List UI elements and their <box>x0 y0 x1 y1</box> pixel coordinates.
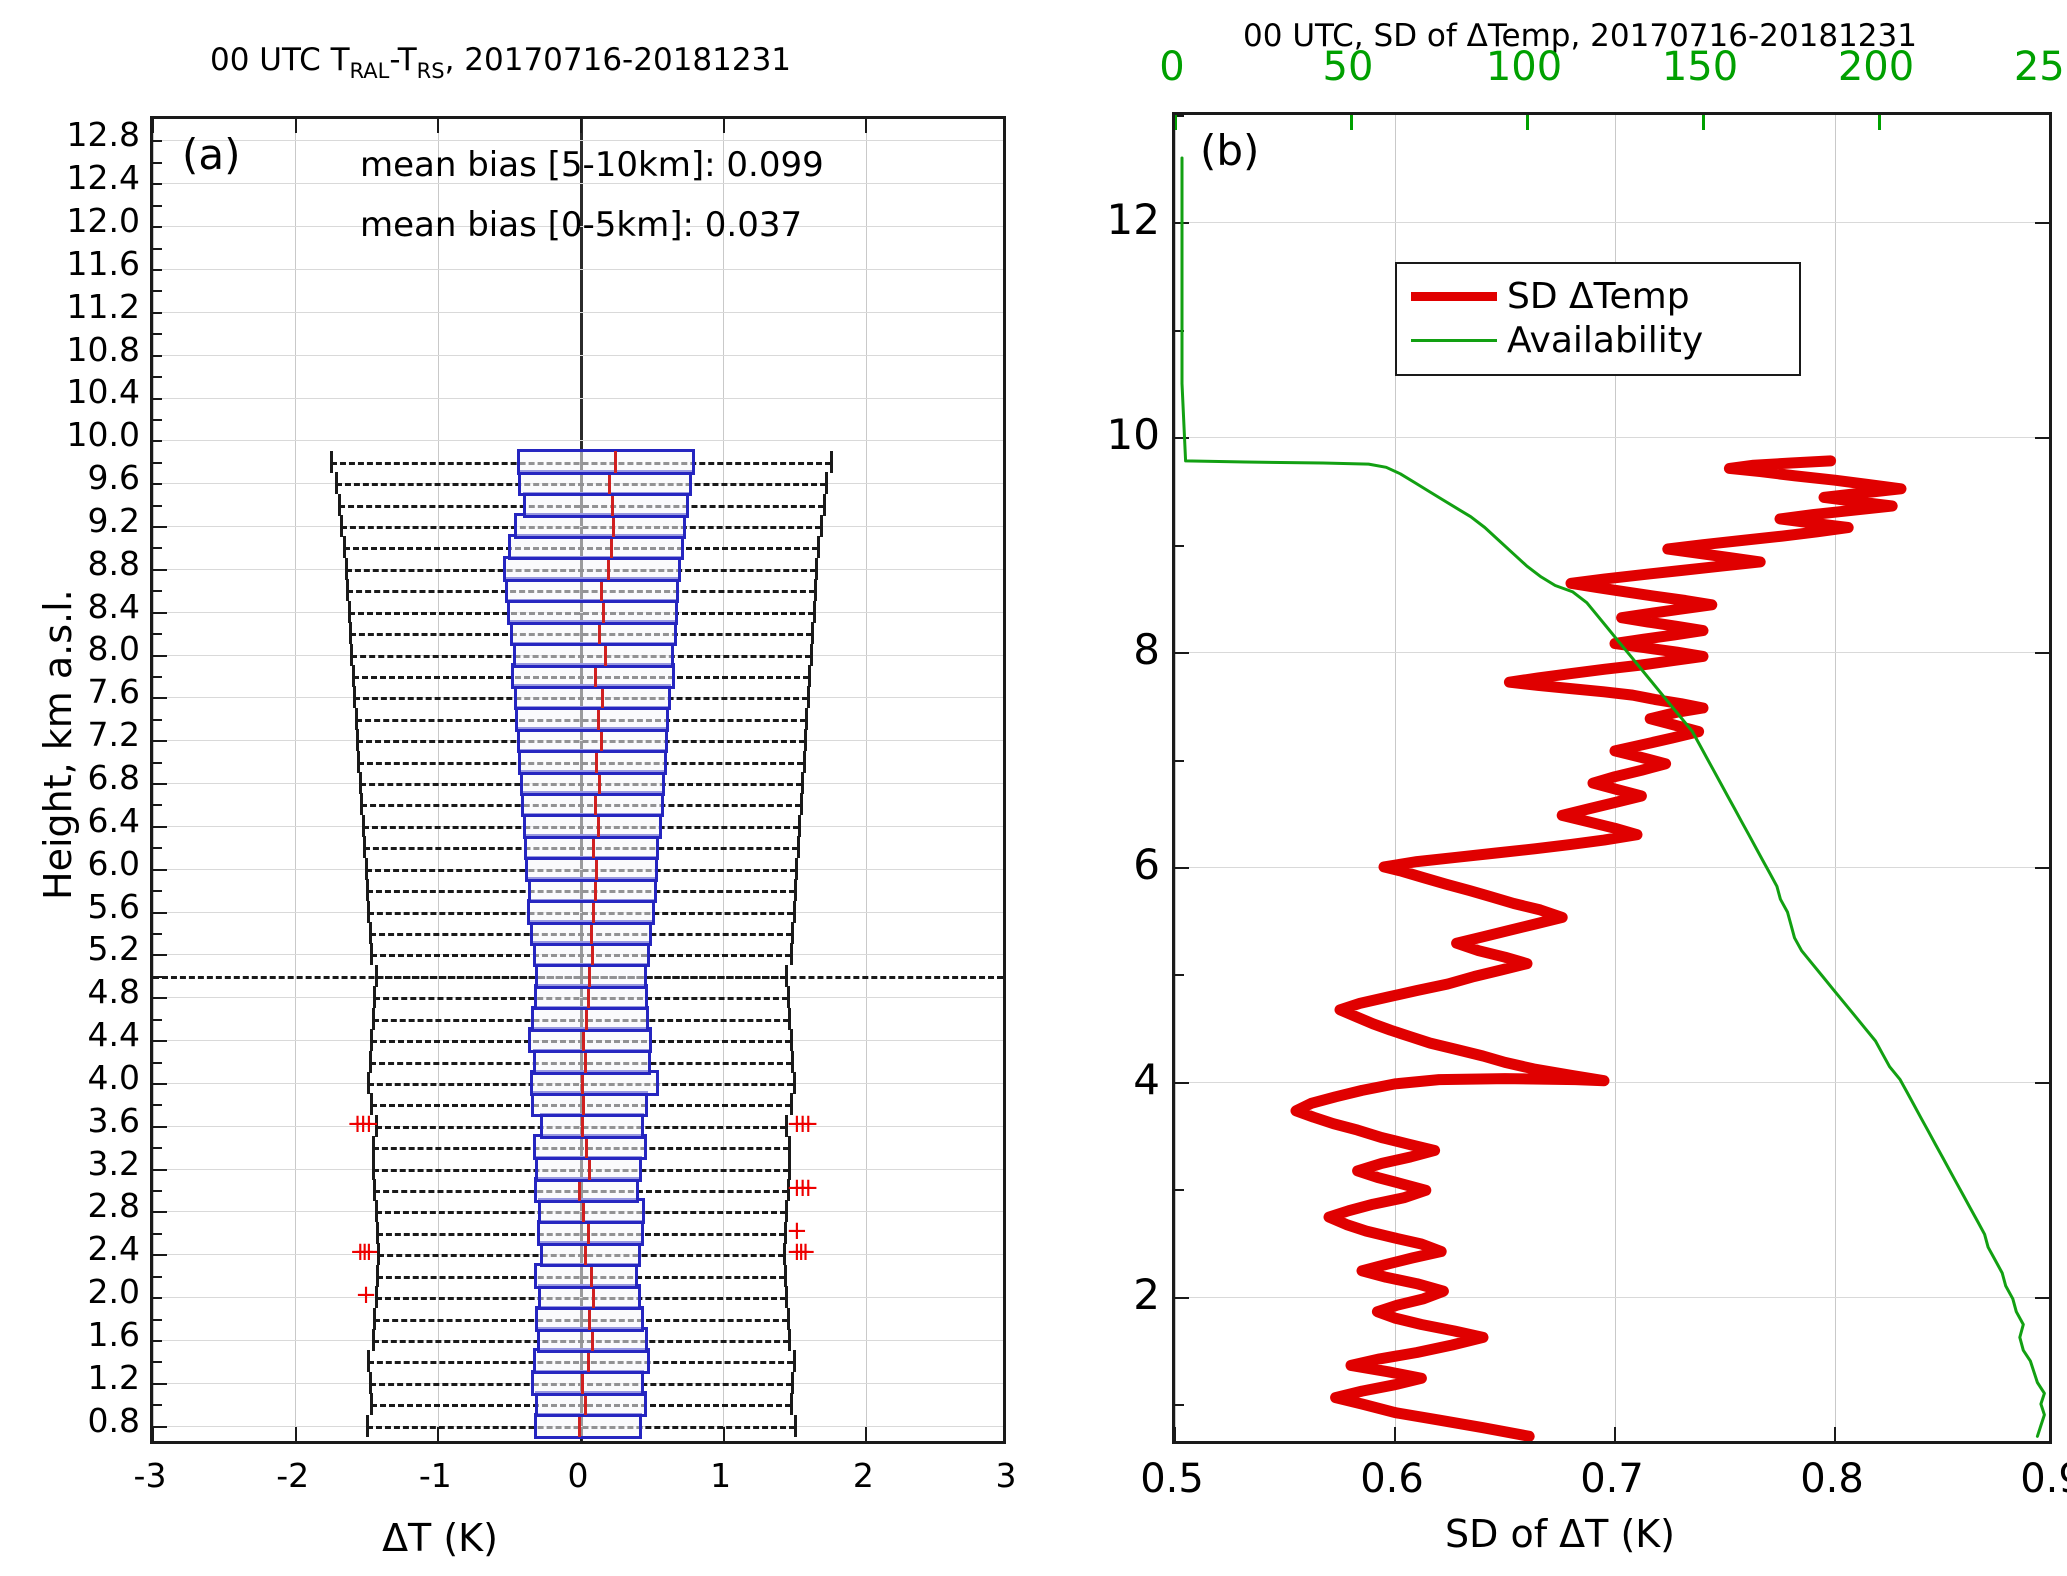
panel-a-ytick <box>153 1169 167 1171</box>
boxplot-median <box>588 1308 591 1330</box>
boxplot-median <box>594 879 597 901</box>
panel-a-gridline-h <box>153 140 1003 141</box>
boxplot-median <box>608 472 611 494</box>
panel-a-ytick <box>153 569 167 571</box>
boxplot-whisker-cap-low <box>343 536 346 558</box>
boxplot-whisker-cap-low <box>356 729 359 751</box>
boxplot-whisker-cap-high <box>788 1136 791 1158</box>
legend-entry-availability: Availability <box>1411 318 1783 362</box>
panel-b-top-tick-label: 100 <box>1444 44 1604 90</box>
boxplot-whisker-cap-low <box>348 601 351 623</box>
boxplot-median <box>582 1200 585 1222</box>
panel-a-xtick-bottom <box>152 1427 154 1441</box>
boxplot-whisker-cap-low <box>350 644 353 666</box>
panel-a-xtick-bottom <box>295 1427 297 1441</box>
boxplot-whisker-cap-high <box>790 1393 793 1415</box>
panel-a-ytick <box>153 505 162 507</box>
panel-a-gridline-h <box>153 355 1003 356</box>
boxplot-whisker-cap-high <box>787 986 790 1008</box>
panel-a-ytick <box>153 1340 162 1342</box>
panel-b-xtick-label: 0.9 <box>1972 1456 2067 1502</box>
boxplot-median <box>584 1393 587 1415</box>
boxplot-whisker-cap-low <box>376 1265 379 1287</box>
boxplot-whisker-cap-low <box>353 686 356 708</box>
boxplot-whisker-cap-high <box>793 1072 796 1094</box>
boxplot-whisker-cap-high <box>808 665 811 687</box>
panel-a-ytick <box>153 1297 162 1299</box>
panel-a-ytick-label: 10.4 <box>2 372 140 411</box>
panel-a-ytick <box>153 1383 167 1385</box>
panel-a-ytick <box>153 140 162 142</box>
panel-a-ytick-label: 8.0 <box>2 629 140 668</box>
boxplot-whisker-cap-high <box>784 1265 787 1287</box>
legend-swatch-availability <box>1411 339 1497 342</box>
boxplot-whisker-cap-high <box>805 708 808 730</box>
boxplot-median <box>600 579 603 601</box>
panel-a-ytick <box>153 590 162 592</box>
panel-a-ytick-label: 11.6 <box>2 244 140 283</box>
panel-a-ytick <box>153 1254 167 1256</box>
boxplot-median <box>597 708 600 730</box>
boxplot-median <box>584 1243 587 1265</box>
panel-a-ytick <box>153 1147 162 1149</box>
boxplot-whisker-cap-high <box>800 793 803 815</box>
panel-a-ytick-label: 2.8 <box>2 1186 140 1225</box>
panel-a-ytick-label: 4.8 <box>2 972 140 1011</box>
panel-a-ytick <box>153 290 162 292</box>
panel-b-label: (b) <box>1200 126 1259 175</box>
panel-a-ytick <box>153 483 162 485</box>
panel-a-ytick <box>153 333 162 335</box>
panel-b-xtick-label: 0.5 <box>1092 1456 1252 1502</box>
panel-b-top-tick-label: 0 <box>1092 44 1252 90</box>
boxplot-whisker-cap-low <box>330 451 333 473</box>
boxplot-whisker-cap-high <box>785 1200 788 1222</box>
boxplot-whisker-cap-low <box>366 1415 369 1437</box>
boxplot-whisker-cap-low <box>373 1179 376 1201</box>
boxplot-whisker-cap-low <box>349 622 352 644</box>
boxplot-median <box>582 1093 585 1115</box>
panel-a-ytick-label: 7.2 <box>2 715 140 754</box>
boxplot-median <box>578 1179 581 1201</box>
boxplot-whisker-cap-high <box>793 1350 796 1372</box>
panel-a-ytick <box>153 1126 167 1128</box>
panel-a-ytick <box>153 890 162 892</box>
panel-a-ytick <box>153 226 162 228</box>
panel-a-ytick <box>153 312 162 314</box>
panel-a-xtick-label: -1 <box>375 1456 495 1495</box>
panel-b-top-tick-label: 50 <box>1268 44 1428 90</box>
boxplot-outlier: + <box>355 1282 377 1308</box>
panel-a-ytick <box>153 1404 162 1406</box>
boxplot-median <box>581 1115 584 1137</box>
panel-a-ytick <box>153 1104 162 1106</box>
panel-a-ytick <box>153 1211 167 1213</box>
panel-a-xtick-top <box>295 119 297 133</box>
panel-a-ytick-label: 5.2 <box>2 929 140 968</box>
boxplot-median <box>587 1350 590 1372</box>
panel-b-ytick-label: 10 <box>1042 410 1160 459</box>
boxplot-whisker-cap-high <box>801 772 804 794</box>
panel-a-xtick-label: -3 <box>90 1456 210 1495</box>
boxplot-outlier: + <box>797 1175 819 1201</box>
panel-a-title-sub2: RS <box>417 59 445 83</box>
boxplot-median <box>588 1158 591 1180</box>
panel-a-ytick <box>153 1426 167 1428</box>
panel-a-xtick-bottom <box>723 1427 725 1441</box>
panel-a-ytick-label: 1.2 <box>2 1358 140 1397</box>
panel-a-xtick-top <box>580 119 582 133</box>
boxplot-whisker-cap-high <box>785 1286 788 1308</box>
boxplot-whisker-cap-high <box>788 1329 791 1351</box>
boxplot-whisker-cap-high <box>820 515 823 537</box>
boxplot-whisker-cap-low <box>357 751 360 773</box>
boxplot-whisker-cap-high <box>790 1093 793 1115</box>
panel-a-ytick-label: 4.0 <box>2 1058 140 1097</box>
panel-a-ytick <box>153 1319 162 1321</box>
boxplot-median <box>587 1222 590 1244</box>
panel-a-ytick-label: 9.2 <box>2 501 140 540</box>
boxplot-whisker-cap-low <box>335 472 338 494</box>
boxplot-whisker-cap-high <box>811 622 814 644</box>
panel-a-ytick <box>153 1276 162 1278</box>
boxplot-median <box>601 686 604 708</box>
panel-b-ytick-label: 2 <box>1042 1270 1160 1319</box>
boxplot-whisker-cap-high <box>793 901 796 923</box>
panel-a-ytick <box>153 912 167 914</box>
boxplot-whisker-cap-low <box>346 579 349 601</box>
panel-a-gridline-v <box>438 119 439 1441</box>
panel-a-ytick <box>153 676 162 678</box>
panel-a-gridline-h <box>153 398 1003 399</box>
boxplot-median <box>582 1029 585 1051</box>
panel-a-gridline-v <box>723 119 724 1441</box>
boxplot-whisker-cap-high <box>797 836 800 858</box>
boxplot-median <box>585 1008 588 1030</box>
boxplot-median <box>602 601 605 623</box>
panel-a-xtick-label: 2 <box>803 1456 923 1495</box>
panel-a-gridline-h <box>153 269 1003 270</box>
boxplot-outlier: + <box>349 1239 371 1265</box>
panel-a-ytick <box>153 697 167 699</box>
panel-a-gridline-h <box>153 440 1003 441</box>
panel-a-title-sub1: RAL <box>350 59 390 83</box>
boxplot-median <box>597 815 600 837</box>
panel-a-xtick-bottom <box>437 1427 439 1441</box>
panel-b-ytick-label: 4 <box>1042 1055 1160 1104</box>
panel-a-ytick <box>153 762 162 764</box>
panel-a-ytick <box>153 547 162 549</box>
boxplot-whisker-cap-low <box>369 922 372 944</box>
panel-a-xtick-top <box>723 119 725 133</box>
panel-a-ytick-label: 3.6 <box>2 1101 140 1140</box>
panel-a-ytick <box>153 1040 167 1042</box>
panel-a-ytick <box>153 719 162 721</box>
boxplot-median <box>590 1265 593 1287</box>
panel-a-ytick <box>153 1361 162 1363</box>
boxplot-whisker-cap-high <box>817 536 820 558</box>
boxplot-whisker-cap-low <box>365 858 368 880</box>
panel-a-ytick <box>153 826 167 828</box>
panel-a-xtick-label: -2 <box>233 1456 353 1495</box>
panel-a-ytick <box>153 526 167 528</box>
panel-b-xtick-label: 0.7 <box>1532 1456 1692 1502</box>
boxplot-whisker-cap-high <box>825 472 828 494</box>
boxplot-median <box>587 986 590 1008</box>
panel-a-ytick <box>153 1019 162 1021</box>
panel-a-ytick-label: 2.0 <box>2 1272 140 1311</box>
panel-a-ytick-label: 3.2 <box>2 1144 140 1183</box>
boxplot-whisker-cap-high <box>803 751 806 773</box>
panel-a-gridline-v <box>295 119 296 1441</box>
boxplot-median <box>604 644 607 666</box>
boxplot-median <box>592 1286 595 1308</box>
boxplot-whisker-cap-low <box>370 943 373 965</box>
boxplot-whisker-cap-low <box>359 772 362 794</box>
boxplot-median <box>607 558 610 580</box>
panel-a-ytick <box>153 462 162 464</box>
boxplot-whisker-cap-low <box>352 665 355 687</box>
panel-a-ytick-label: 9.6 <box>2 458 140 497</box>
boxplot-whisker-cap-high <box>798 815 801 837</box>
boxplot-whisker-cap-high <box>790 1029 793 1051</box>
boxplot-whisker-cap-high <box>791 1051 794 1073</box>
boxplot-whisker-cap-low <box>369 1372 372 1394</box>
panel-a-ytick-label: 6.8 <box>2 758 140 797</box>
boxplot-box <box>517 449 695 475</box>
panel-a-title-rest: , 20170716-20181231 <box>445 42 791 78</box>
series-sd-dtemp <box>1296 461 1901 1436</box>
boxplot-whisker-cap-low <box>338 494 341 516</box>
boxplot-median <box>581 1072 584 1094</box>
panel-a-label: (a) <box>182 130 241 179</box>
panel-a-xtick-bottom <box>865 1427 867 1441</box>
panel-b-top-tick-label: 150 <box>1620 44 1780 90</box>
panel-a-ytick-label: 2.4 <box>2 1229 140 1268</box>
panel-a-ytick <box>153 376 162 378</box>
panel-a-ytick <box>153 783 167 785</box>
boxplot-whisker-cap-high <box>795 858 798 880</box>
boxplot-whisker-cap-high <box>794 1415 797 1437</box>
boxplot-whisker-cap-high <box>785 965 788 987</box>
panel-a-ytick <box>153 1062 162 1064</box>
boxplot-whisker-cap-low <box>376 1222 379 1244</box>
boxplot-whisker-cap-high <box>807 686 810 708</box>
panel-b-xtick-label: 0.8 <box>1752 1456 1912 1502</box>
panel-a-ytick <box>153 205 162 207</box>
boxplot-whisker-cap-low <box>366 879 369 901</box>
boxplot-whisker-cap-high <box>814 579 817 601</box>
boxplot-whisker-cap-high <box>787 1308 790 1330</box>
panel-a-ytick-label: 6.0 <box>2 844 140 883</box>
panel-a-ytick <box>153 419 162 421</box>
boxplot-whisker-cap-high <box>788 1008 791 1030</box>
panel-a-ytick-label: 8.8 <box>2 544 140 583</box>
panel-a-ytick <box>153 248 162 250</box>
panel-a-ytick <box>153 804 162 806</box>
boxplot-whisker-cap-high <box>791 1372 794 1394</box>
panel-a-ytick <box>153 933 162 935</box>
panel-a-ytick <box>153 633 162 635</box>
panel-b-ytick-label: 12 <box>1042 195 1160 244</box>
boxplot-whisker-cap-high <box>815 558 818 580</box>
boxplot-median <box>590 922 593 944</box>
boxplot-whisker-cap-low <box>345 558 348 580</box>
boxplot-whisker-cap-low <box>367 1072 370 1094</box>
panel-a-ytick-label: 12.0 <box>2 201 140 240</box>
panel-a-ytick <box>153 183 162 185</box>
panel-a-ytick <box>153 398 162 400</box>
boxplot-outlier: + <box>786 1218 808 1244</box>
panel-a-ytick-label: 6.4 <box>2 801 140 840</box>
panel-a-title-dash: -T <box>389 42 416 78</box>
boxplot-whisker-cap-low <box>373 1308 376 1330</box>
panel-a-gridline-v <box>153 119 154 1441</box>
boxplot-median <box>585 1136 588 1158</box>
boxplot-median <box>591 1329 594 1351</box>
panel-a-ytick <box>153 997 167 999</box>
panel-a-ytick <box>153 1083 167 1085</box>
boxplot-median <box>581 1372 584 1394</box>
boxplot-median <box>592 836 595 858</box>
panel-a-title: 00 UTC TRAL-TRS, 20170716-20181231 <box>210 42 791 78</box>
boxplot-median <box>611 494 614 516</box>
boxplot-whisker-cap-high <box>788 1158 791 1180</box>
panel-a-ytick <box>153 612 167 614</box>
boxplot-whisker-cap-low <box>370 1093 373 1115</box>
panel-a-ytick <box>153 355 162 357</box>
boxplot-whisker-cap-high <box>823 494 826 516</box>
panel-a-ytick-label: 12.4 <box>2 158 140 197</box>
legend-label-sd: SD ΔTemp <box>1507 276 1690 317</box>
panel-a-ytick-label: 8.4 <box>2 587 140 626</box>
boxplot-median <box>595 751 598 773</box>
boxplot-whisker-cap-high <box>791 922 794 944</box>
panel-a-xtick-label: 3 <box>946 1456 1066 1495</box>
panel-a-ytick <box>153 440 162 442</box>
panel-a-ytick <box>153 162 162 164</box>
panel-b-legend: SD ΔTemp Availability <box>1395 262 1801 376</box>
panel-a-xtick-label: 1 <box>661 1456 781 1495</box>
boxplot-median <box>598 772 601 794</box>
panel-b-xlabel: SD of ΔT (K) <box>1330 1512 1790 1556</box>
panel-a-annotation-1: mean bias [5-10km]: 0.099 <box>360 145 824 185</box>
boxplot-whisker-cap-low <box>370 1029 373 1051</box>
boxplot-whisker-cap-low <box>360 793 363 815</box>
boxplot-whisker-cap-low <box>372 1136 375 1158</box>
boxplot-median <box>594 793 597 815</box>
boxplot-outlier: + <box>797 1111 819 1137</box>
boxplot-whisker-cap-low <box>363 836 366 858</box>
panel-a-ytick <box>153 1190 162 1192</box>
boxplot-whisker-cap-low <box>369 1051 372 1073</box>
panel-a-xtick-label: 0 <box>518 1456 638 1495</box>
boxplot-median <box>595 858 598 880</box>
legend-label-availability: Availability <box>1507 320 1703 361</box>
panel-a-ytick <box>153 847 162 849</box>
panel-a-ytick <box>153 954 167 956</box>
panel-a-ytick-label: 5.6 <box>2 887 140 926</box>
panel-a-ytick <box>153 269 162 271</box>
panel-a-title-main: 00 UTC T <box>210 42 350 78</box>
panel-a-xtick-top <box>437 119 439 133</box>
panel-a-ytick <box>153 869 167 871</box>
panel-a-ytick-label: 10.0 <box>2 415 140 454</box>
boxplot-whisker-cap-low <box>362 815 365 837</box>
boxplot-median <box>578 1415 581 1437</box>
boxplot-whisker-cap-low <box>372 1329 375 1351</box>
panel-b-ytick-label: 8 <box>1042 625 1160 674</box>
figure-root: 00 UTC TRAL-TRS, 20170716-20181231 Heigh… <box>0 0 2067 1576</box>
boxplot-median <box>598 622 601 644</box>
panel-a-ytick-label: 7.6 <box>2 672 140 711</box>
panel-a-ytick <box>153 740 167 742</box>
panel-a-xlabel: ΔT (K) <box>230 1516 650 1560</box>
boxplot-median <box>594 665 597 687</box>
panel-a-gridline-h <box>153 312 1003 313</box>
panel-a-xtick-top <box>152 119 154 133</box>
panel-b-ytick-label: 6 <box>1042 840 1160 889</box>
panel-b-xtick-label: 0.6 <box>1312 1456 1472 1502</box>
panel-a-ytick <box>153 1233 162 1235</box>
boxplot-whisker-cap-high <box>804 729 807 751</box>
boxplot-median <box>592 901 595 923</box>
boxplot-whisker-cap-low <box>340 515 343 537</box>
panel-a-ytick-label: 0.8 <box>2 1401 140 1440</box>
boxplot-whisker-cap-low <box>372 1158 375 1180</box>
panel-b-top-tick-label: 200 <box>1796 44 1956 90</box>
boxplot-median <box>584 1051 587 1073</box>
boxplot-whisker-cap-low <box>375 1200 378 1222</box>
legend-swatch-sd <box>1411 292 1497 301</box>
boxplot-whisker-cap-high <box>813 601 816 623</box>
panel-a-ytick <box>153 655 167 657</box>
panel-b-top-tick-label: 250 <box>1972 44 2067 90</box>
panel-a-annotation-2: mean bias [0-5km]: 0.037 <box>360 205 802 245</box>
boxplot-median <box>614 451 617 473</box>
boxplot-outlier: + <box>347 1111 369 1137</box>
boxplot-whisker-cap-high <box>810 644 813 666</box>
boxplot-whisker-cap-low <box>367 1350 370 1372</box>
panel-a-xtick-top <box>865 119 867 133</box>
boxplot-median <box>610 536 613 558</box>
boxplot-median <box>612 515 615 537</box>
boxplot-whisker-cap-low <box>370 1393 373 1415</box>
panel-a-ytick-label: 11.2 <box>2 287 140 326</box>
boxplot-whisker-cap-high <box>830 451 833 473</box>
boxplot-whisker-cap-low <box>372 1008 375 1030</box>
boxplot-whisker-cap-low <box>355 708 358 730</box>
boxplot-median <box>588 965 591 987</box>
boxplot-median <box>591 943 594 965</box>
panel-a-plot-area: +++++++++++++++++ <box>150 116 1006 1444</box>
boxplot-whisker-cap-high <box>790 943 793 965</box>
boxplot-whisker-cap-low <box>373 986 376 1008</box>
panel-a-ytick-label: 1.6 <box>2 1315 140 1354</box>
panel-a-gridline-v <box>866 119 867 1441</box>
panel-a-ytick-label: 12.8 <box>2 115 140 154</box>
boxplot-whisker-cap-low <box>367 901 370 923</box>
panel-a-ytick-label: 4.4 <box>2 1015 140 1054</box>
panel-a-ytick-label: 10.8 <box>2 330 140 369</box>
boxplot-whisker-cap-low <box>375 965 378 987</box>
legend-entry-sd: SD ΔTemp <box>1411 274 1783 318</box>
boxplot-median <box>600 729 603 751</box>
boxplot-whisker-cap-high <box>794 879 797 901</box>
